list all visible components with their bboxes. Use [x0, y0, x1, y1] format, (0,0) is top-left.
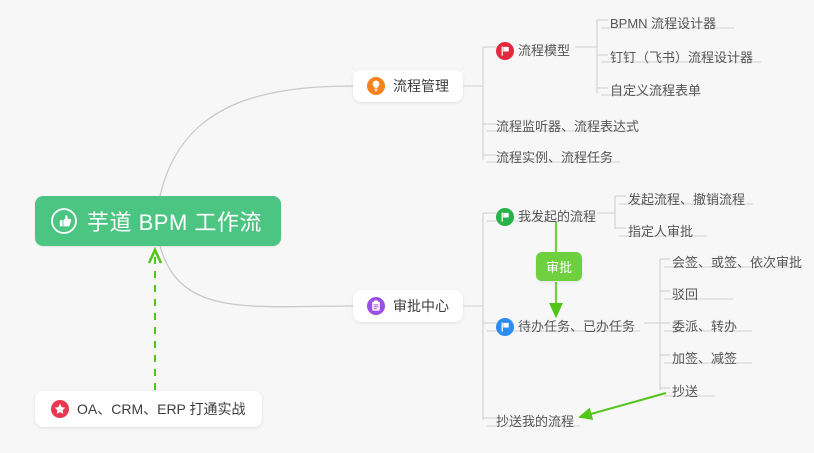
flag-icon	[496, 42, 514, 60]
mindmap-canvas: 芋道 BPM 工作流 流程管理 流程模型 BPMN 流程设计器 钉钉（飞书）流程	[0, 0, 814, 453]
leaf-countersign-label: 会签、或签、依次审批	[672, 255, 802, 270]
leaf-custom-process-form-label: 自定义流程表单	[610, 83, 701, 98]
leaf-cc-to-me-process[interactable]: 抄送我的流程	[488, 408, 582, 435]
leaf-dingtalk-designer-label: 钉钉（飞书）流程设计器	[610, 50, 753, 65]
leaf-start-cancel-process[interactable]: 发起流程、撤销流程	[620, 186, 753, 213]
lightbulb-icon	[367, 77, 385, 95]
leaf-countersign[interactable]: 会签、或签、依次审批	[664, 249, 810, 276]
leaf-listener-expression[interactable]: 流程监听器、流程表达式	[488, 113, 647, 140]
node-liucheng-guanli[interactable]: 流程管理	[353, 70, 463, 102]
node-todo-done-task-label: 待办任务、已办任务	[518, 319, 635, 334]
leaf-cc-label: 抄送	[672, 384, 698, 399]
approval-tag-label: 审批	[546, 260, 572, 275]
root-node[interactable]: 芋道 BPM 工作流	[35, 196, 281, 246]
leaf-add-remove-sign[interactable]: 加签、减签	[664, 345, 745, 372]
node-oa-crm-erp[interactable]: OA、CRM、ERP 打通实战	[35, 391, 262, 427]
leaf-listener-expression-label: 流程监听器、流程表达式	[496, 119, 639, 134]
node-my-started-process[interactable]: 我发起的流程	[494, 203, 604, 230]
node-liucheng-guanli-label: 流程管理	[393, 76, 449, 96]
node-shenpi-zhongxin[interactable]: 审批中心	[353, 290, 463, 322]
leaf-assignee-approval-label: 指定人审批	[628, 224, 693, 239]
leaf-custom-process-form[interactable]: 自定义流程表单	[602, 77, 709, 104]
thumbs-up-icon	[51, 208, 77, 234]
flag-icon	[496, 318, 514, 336]
leaf-dingtalk-designer[interactable]: 钉钉（飞书）流程设计器	[602, 44, 761, 71]
leaf-start-cancel-process-label: 发起流程、撤销流程	[628, 192, 745, 207]
star-icon	[51, 400, 69, 418]
node-liucheng-moxing-label: 流程模型	[518, 43, 570, 58]
leaf-assignee-approval[interactable]: 指定人审批	[620, 218, 701, 245]
approval-tag[interactable]: 审批	[536, 252, 582, 281]
leaf-cc[interactable]: 抄送	[664, 378, 706, 405]
node-oa-crm-erp-label: OA、CRM、ERP 打通实战	[77, 399, 246, 419]
arrow-cc-to-ccme	[580, 393, 666, 417]
leaf-instance-task-label: 流程实例、流程任务	[496, 150, 613, 165]
leaf-delegate-transfer[interactable]: 委派、转办	[664, 313, 745, 340]
node-my-started-process-label: 我发起的流程	[518, 209, 596, 224]
node-liucheng-moxing[interactable]: 流程模型	[494, 37, 578, 64]
flag-icon	[496, 208, 514, 226]
leaf-instance-task[interactable]: 流程实例、流程任务	[488, 144, 621, 171]
leaf-delegate-transfer-label: 委派、转办	[672, 319, 737, 334]
root-label: 芋道 BPM 工作流	[87, 205, 262, 237]
leaf-cc-to-me-process-label: 抄送我的流程	[496, 414, 574, 429]
link-root-to-shenpi-zhongxin	[160, 246, 353, 307]
leaf-bpmn-designer-label: BPMN 流程设计器	[610, 16, 716, 31]
leaf-reject[interactable]: 驳回	[664, 281, 706, 308]
leaf-add-remove-sign-label: 加签、减签	[672, 351, 737, 366]
leaf-bpmn-designer[interactable]: BPMN 流程设计器	[602, 10, 724, 37]
node-shenpi-zhongxin-label: 审批中心	[393, 296, 449, 316]
node-todo-done-task[interactable]: 待办任务、已办任务	[494, 313, 643, 340]
leaf-reject-label: 驳回	[672, 287, 698, 302]
link-root-to-liucheng-guanli	[160, 86, 353, 196]
clipboard-icon	[367, 297, 385, 315]
